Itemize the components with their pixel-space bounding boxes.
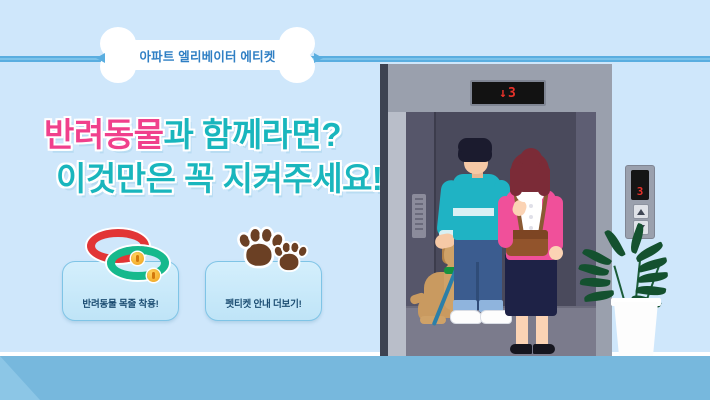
paw-toe: [291, 243, 298, 252]
passengers-group: [406, 112, 596, 356]
elevator-frame-shadow: [380, 64, 388, 356]
headline-line-2: 이것만은 꼭 지켜주세요!: [56, 157, 374, 201]
banner-label: 아파트 엘리베이터 에티켓: [100, 27, 315, 83]
banner-arrow-right-icon: [314, 53, 323, 63]
woman-leg: [516, 314, 528, 348]
paw-pad: [280, 254, 299, 270]
paw-print-icon: [228, 228, 318, 284]
plant-leaf: [638, 272, 669, 283]
paw-toe: [251, 229, 260, 242]
elevator-illustration: ↓3: [374, 60, 634, 356]
plant-pot: [614, 302, 658, 356]
woman-left-arm: [498, 196, 513, 248]
collar-tag-icon: [131, 252, 144, 265]
paw-toe: [298, 246, 308, 257]
woman-right-hand: [549, 246, 563, 260]
woman-heel-shoe: [510, 344, 532, 354]
woman-skirt: [505, 254, 557, 316]
man-hair-front: [458, 138, 492, 152]
paw-toe: [283, 243, 290, 252]
headline-highlight: 반려동물: [44, 116, 163, 153]
collar-tag-icon: [147, 269, 160, 282]
woman-hair-side: [538, 166, 550, 196]
cta-card-collar[interactable]: 반려동물 목줄 착용!: [62, 261, 179, 321]
man-shoe: [450, 310, 482, 324]
headline-line-1: 반려동물과 함께라면?: [44, 113, 374, 157]
woman-hair-top: [520, 148, 542, 164]
arrow-up-icon: [637, 209, 645, 215]
elevator-cab: [406, 112, 596, 356]
woman-leg: [536, 314, 548, 348]
paw-pad: [246, 244, 271, 266]
floor-band: [0, 356, 710, 400]
call-panel-floor-display: 3: [631, 170, 649, 200]
headline: 반려동물과 함께라면? 이것만은 꼭 지켜주세요!: [44, 113, 374, 200]
woman-blouse-button: [529, 204, 533, 208]
paw-toe: [262, 229, 271, 242]
cta-card-petiquette[interactable]: 펫티켓 안내 더보기!: [205, 261, 322, 321]
call-button-up[interactable]: [633, 204, 649, 219]
cta-card-collar-label: 반려동물 목줄 착용!: [63, 296, 178, 310]
headline-line-2-text: 이것만은 꼭 지켜주세요!: [56, 160, 382, 197]
elevator-floor-display: ↓3: [470, 80, 546, 106]
cta-card-petiquette-label: 펫티켓 안내 더보기!: [206, 296, 321, 310]
poster-canvas: 아파트 엘리베이터 에티켓 반려동물과 함께라면? 이것만은 꼭 지켜주세요! …: [0, 0, 710, 400]
woman-heel-shoe: [533, 344, 555, 354]
woman-right-arm: [549, 196, 563, 252]
woman-hair-side: [510, 166, 522, 196]
woman-blouse-button: [529, 215, 533, 219]
headline-rest: 과 함께라면?: [163, 116, 341, 153]
potted-plant: [596, 246, 672, 356]
pet-collar-icon: [85, 229, 175, 285]
bone-banner: 아파트 엘리베이터 에티켓: [100, 27, 315, 83]
banner-arrow-left-icon: [96, 53, 105, 63]
